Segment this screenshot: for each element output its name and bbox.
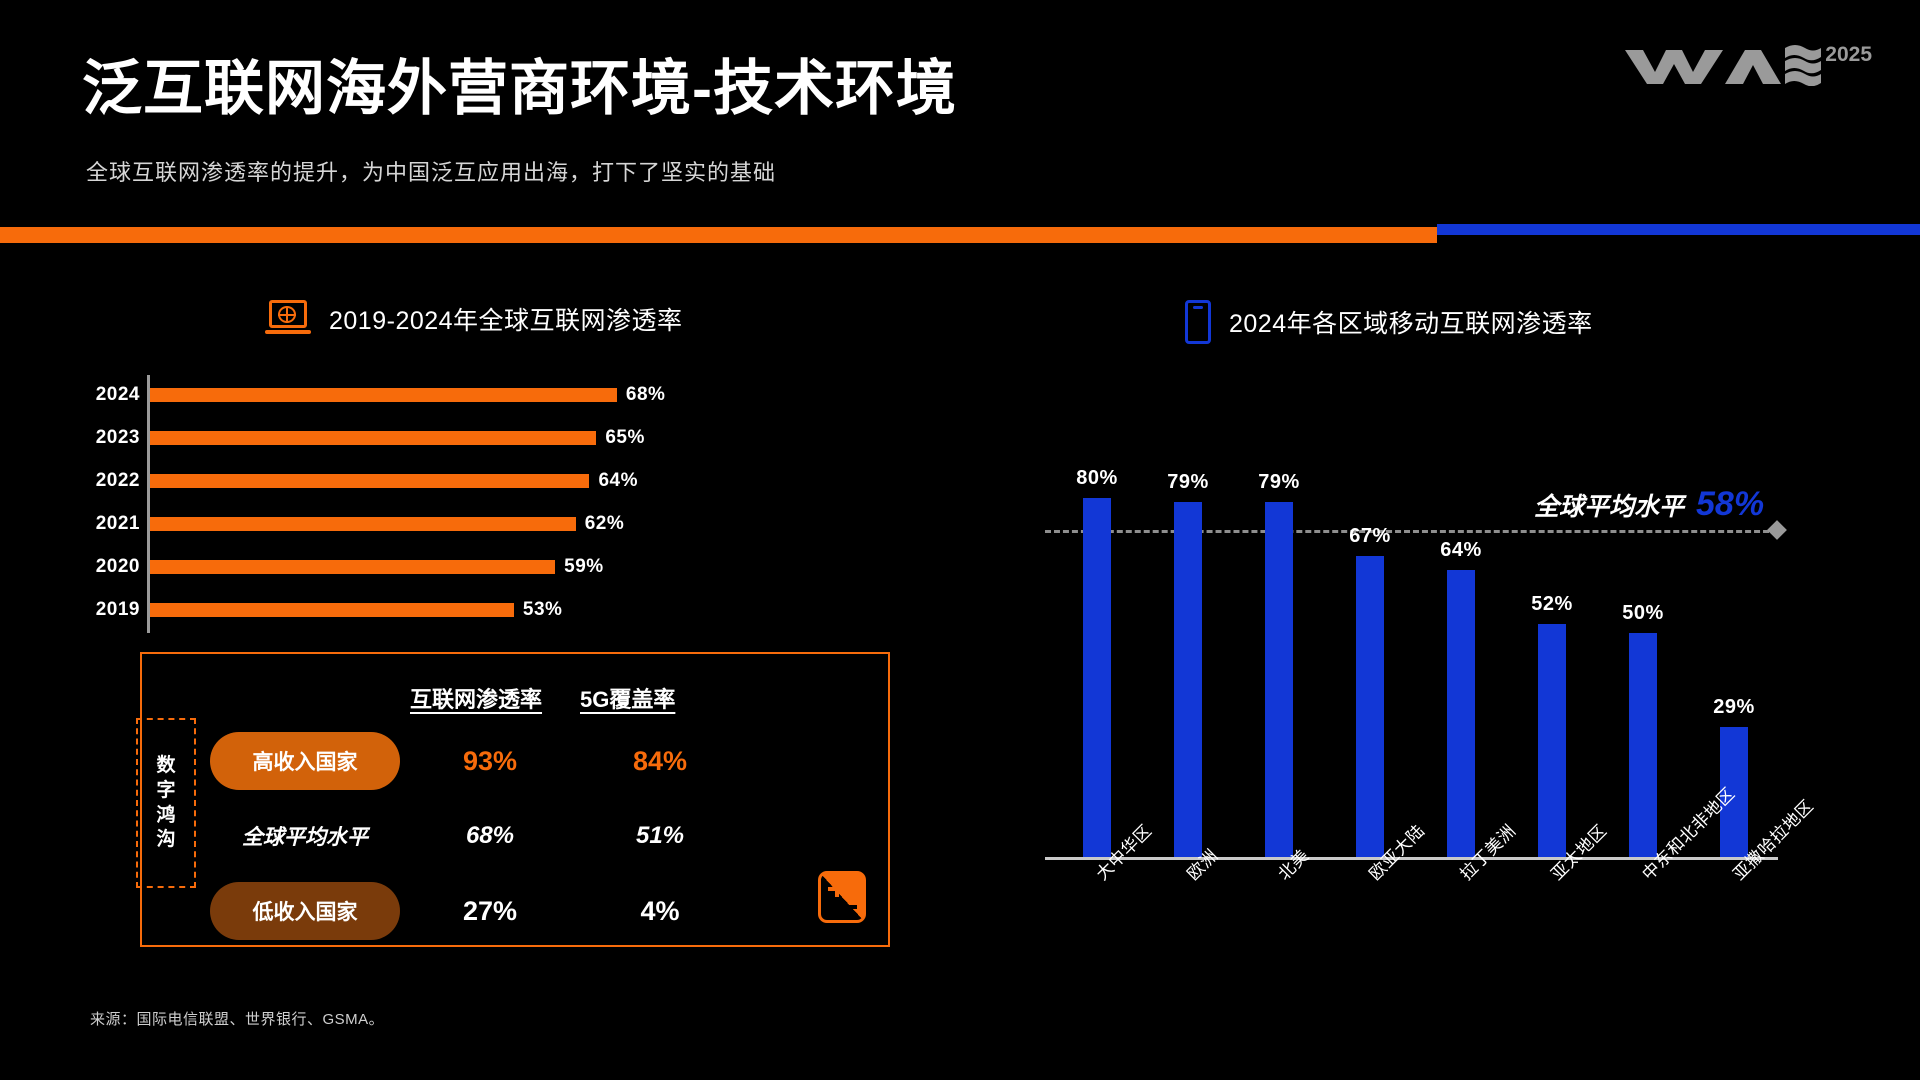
table-cell-value: 93% <box>425 732 555 790</box>
wave-logo-year: 2025 <box>1825 44 1872 65</box>
divider-bar-orange <box>0 227 1437 243</box>
bar-value-label: 52% <box>1531 593 1573 616</box>
global-average-annotation: 全球平均水平 58% <box>1534 485 1764 524</box>
table-row: 全球平均水平68%51% <box>142 801 892 871</box>
bar-column: 67% <box>1328 525 1412 857</box>
global-internet-penetration-bar-chart: 202468%202365%202264%202162%202059%20195… <box>82 375 902 635</box>
global-average-marker-icon <box>1767 520 1787 540</box>
bar-row: 202468% <box>82 375 902 415</box>
bar-value-label: 80% <box>1076 467 1118 490</box>
table-cell-value: 84% <box>595 732 725 790</box>
bar-value-label: 64% <box>598 470 638 492</box>
wave-wordmark-icon <box>1625 42 1821 86</box>
table-cell-value: 51% <box>595 807 725 865</box>
plus-minus-calculator-icon <box>818 871 866 923</box>
bar-segment <box>1447 570 1475 857</box>
table-cell-value: 27% <box>425 882 555 940</box>
bar-category-label: 2023 <box>82 427 140 449</box>
bar-column: 79% <box>1146 471 1230 857</box>
bar-segment <box>150 388 617 402</box>
bar-value-label: 50% <box>1622 602 1664 625</box>
bar-column: 52% <box>1510 593 1594 857</box>
bar-value-label: 62% <box>585 513 625 535</box>
bar-row: 202059% <box>82 547 902 587</box>
table-column-header-1: 5G覆盖率 <box>580 682 675 714</box>
table-row: 高收入国家93%84% <box>142 726 892 796</box>
bar-segment <box>1174 502 1202 857</box>
digital-divide-table: 数字鸿沟 互联网渗透率 5G覆盖率 高收入国家93%84%全球平均水平68%51… <box>140 652 890 947</box>
bar-category-label: 2019 <box>82 599 140 621</box>
table-row-label: 高收入国家 <box>210 732 400 790</box>
left-chart-header: 2019-2024年全球互联网渗透率 <box>265 300 683 338</box>
bar-value-label: 59% <box>564 556 604 578</box>
bar-category-label: 2021 <box>82 513 140 535</box>
bar-value-label: 29% <box>1713 696 1755 719</box>
table-cell-value: 4% <box>595 882 725 940</box>
table-cell-value: 68% <box>425 807 555 865</box>
global-average-value: 58% <box>1696 485 1764 524</box>
bar-segment <box>1356 556 1384 857</box>
laptop-globe-icon <box>265 300 311 338</box>
global-average-label: 全球平均水平 <box>1534 487 1684 523</box>
bar-value-label: 65% <box>605 427 645 449</box>
bar-value-label: 79% <box>1167 471 1209 494</box>
table-row-label: 低收入国家 <box>210 882 400 940</box>
bar-segment <box>1538 624 1566 857</box>
bar-value-label: 67% <box>1349 525 1391 548</box>
bar-category-label: 2024 <box>82 384 140 406</box>
wave-logo: 2025 <box>1625 42 1872 86</box>
bar-column: 80% <box>1055 467 1139 857</box>
left-chart-title: 2019-2024年全球互联网渗透率 <box>329 301 683 337</box>
source-note: 来源：国际电信联盟、世界银行、GSMA。 <box>90 1008 384 1029</box>
bar-segment <box>1265 502 1293 857</box>
bar-row: 201953% <box>82 590 902 630</box>
page-title: 泛互联网海外营商环境-技术环境 <box>82 40 957 127</box>
bar-segment <box>150 603 514 617</box>
bar-category-label: 2020 <box>82 556 140 578</box>
table-column-header-0: 互联网渗透率 <box>410 682 542 714</box>
bar-segment <box>150 431 596 445</box>
bar-column: 64% <box>1419 539 1503 857</box>
divider-bar-blue <box>1437 224 1920 235</box>
bar-segment <box>150 474 589 488</box>
right-chart-title: 2024年各区域移动互联网渗透率 <box>1229 304 1593 340</box>
bar-row: 202365% <box>82 418 902 458</box>
bar-value-label: 53% <box>523 599 563 621</box>
bar-value-label: 79% <box>1258 471 1300 494</box>
bar-row: 202162% <box>82 504 902 544</box>
page-subtitle: 全球互联网渗透率的提升，为中国泛互应用出海，打下了坚实的基础 <box>86 155 776 187</box>
bar-segment <box>1083 498 1111 857</box>
regional-mobile-penetration-bar-chart: 全球平均水平 58% 80%79%79%67%64%52%50%29% 大中华区… <box>1045 395 1890 860</box>
bar-segment <box>150 560 555 574</box>
bar-column: 79% <box>1237 471 1321 857</box>
table-row: 低收入国家27%4% <box>142 876 892 946</box>
bar-category-label: 2022 <box>82 470 140 492</box>
bar-value-label: 68% <box>626 384 666 406</box>
right-chart-header: 2024年各区域移动互联网渗透率 <box>1185 300 1593 344</box>
bar-row: 202264% <box>82 461 902 501</box>
table-row-label: 全球平均水平 <box>210 807 400 865</box>
bar-segment <box>150 517 576 531</box>
mobile-phone-icon <box>1185 300 1211 344</box>
bar-segment <box>1629 633 1657 857</box>
bar-value-label: 64% <box>1440 539 1482 562</box>
bar-column: 50% <box>1601 602 1685 857</box>
